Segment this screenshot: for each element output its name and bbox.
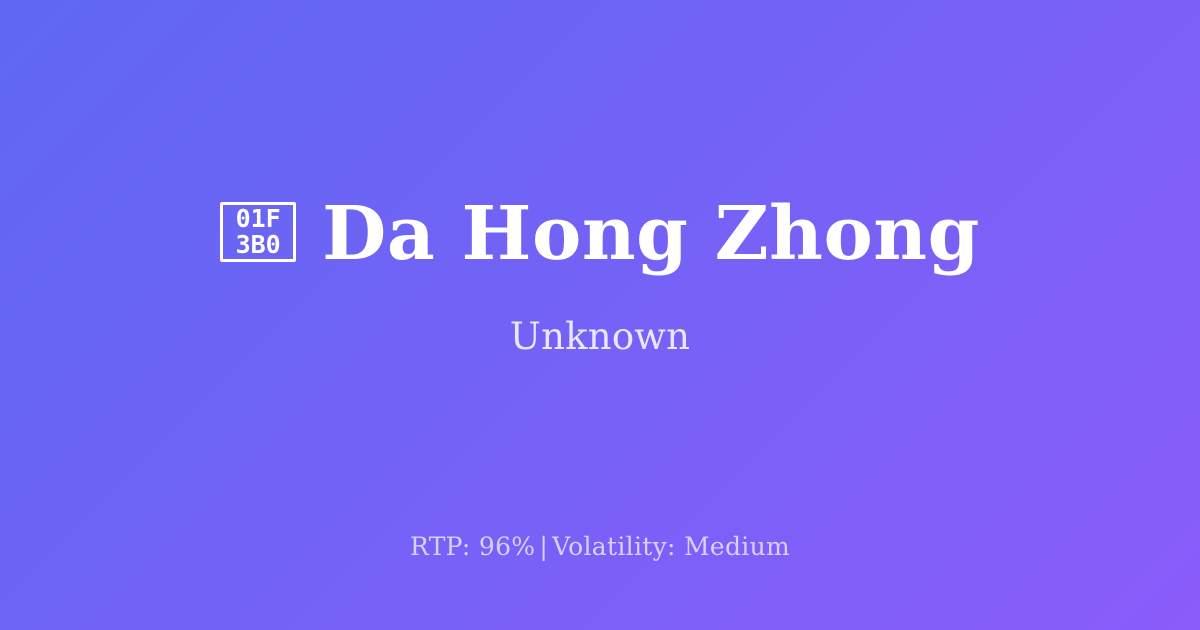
title-row: 01F 3B0 Da Hong Zhong: [0, 195, 1200, 273]
volatility-label: Volatility:: [552, 532, 676, 561]
page-title: Da Hong Zhong: [322, 195, 980, 273]
game-stats-line: RTP: 96%|Volatility: Medium: [0, 532, 1200, 562]
hero-block: 01F 3B0 Da Hong Zhong Unknown: [0, 195, 1200, 360]
tofu-hex-top: 01F: [236, 206, 281, 232]
provider-subtitle: Unknown: [510, 315, 690, 359]
volatility-value: Medium: [684, 532, 790, 561]
slot-machine-emoji-tofu-icon: 01F 3B0: [220, 202, 296, 262]
game-preview-card: 01F 3B0 Da Hong Zhong Unknown RTP: 96%|V…: [0, 0, 1200, 630]
stats-separator: |: [535, 532, 552, 561]
rtp-label: RTP:: [410, 532, 471, 561]
tofu-hex-bottom: 3B0: [236, 232, 281, 258]
rtp-value: 96%: [479, 532, 535, 561]
